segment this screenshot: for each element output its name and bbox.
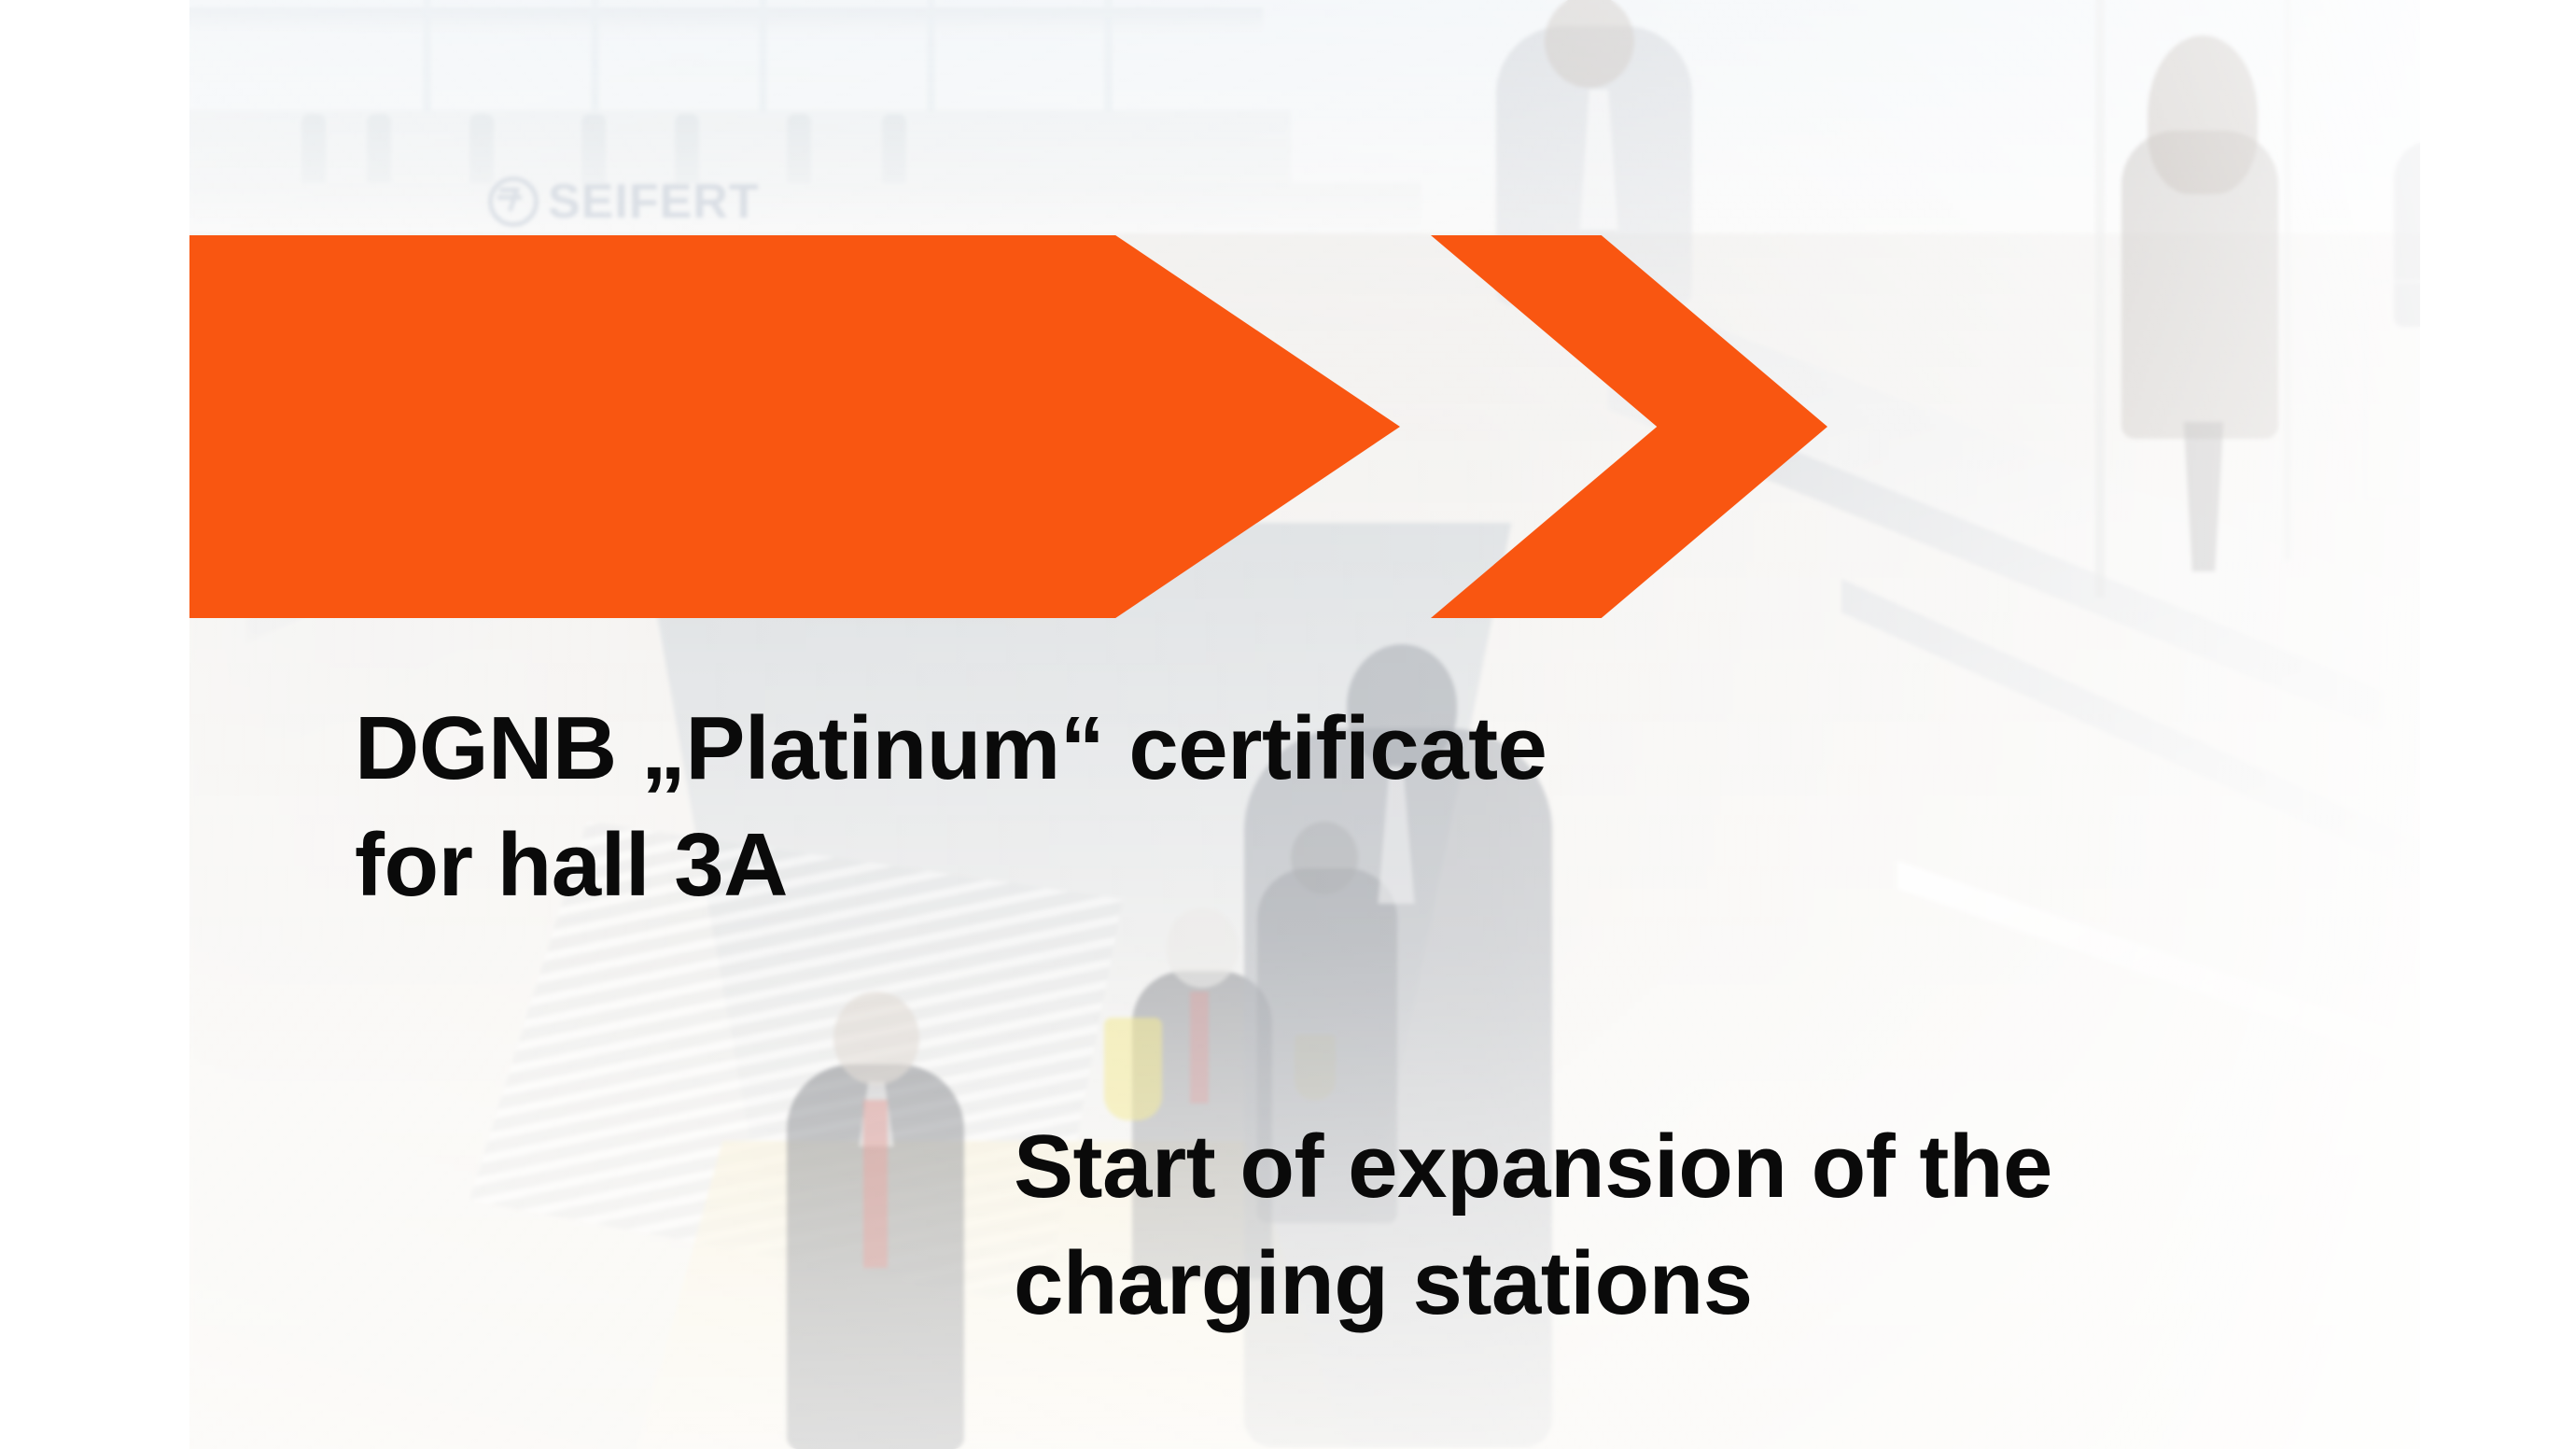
slide-canvas: SEIFERT <box>0 0 2576 1449</box>
headline-dgnb-platinum: DGNB „Platinum“ certificate for hall 3A <box>355 691 1547 924</box>
headline-charging-stations: Start of expansion of the charging stati… <box>1014 1109 2052 1343</box>
